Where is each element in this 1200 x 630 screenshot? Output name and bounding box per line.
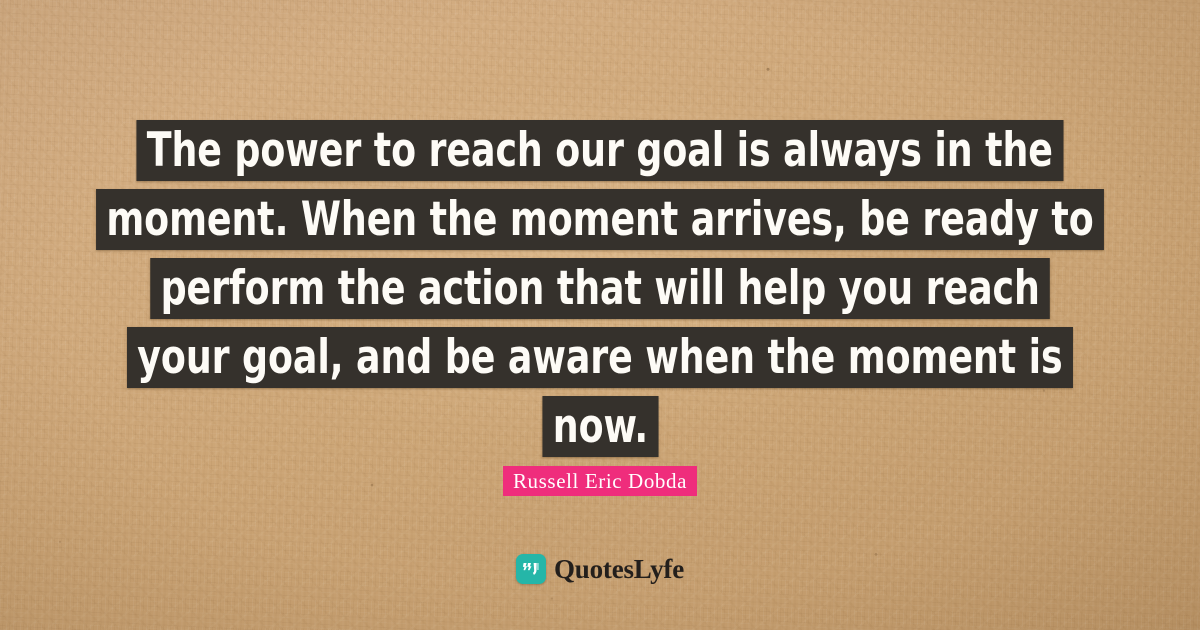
card-content: The power to reach our goal is always in… — [0, 0, 1200, 630]
quote-line: your goal, and be aware when the moment … — [127, 327, 1073, 388]
quote-line: perform the action that will help you re… — [150, 258, 1050, 319]
quote-line: moment. When the moment arrives, be read… — [96, 189, 1104, 250]
brand-name: QuotesLyfe — [554, 554, 684, 584]
author-name: Russell Eric Dobda — [503, 466, 697, 496]
brand-logo[interactable]: QuotesLyfe — [0, 554, 1200, 584]
quote-card: The power to reach our goal is always in… — [0, 0, 1200, 630]
quote-author: Russell Eric Dobda — [0, 466, 1200, 496]
quote-line: The power to reach our goal is always in… — [137, 120, 1064, 181]
quote-marks-icon — [516, 554, 546, 584]
quote-line: now. — [542, 396, 658, 457]
quote-text-block: The power to reach our goal is always in… — [0, 120, 1200, 465]
